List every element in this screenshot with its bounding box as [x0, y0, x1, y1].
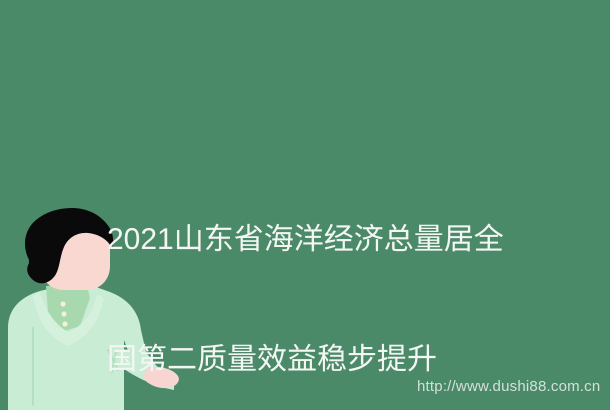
news-banner-image: 2021山东省海洋经济总量居全 国第二质量效益稳步提升 http://www.d…: [0, 0, 610, 410]
headline-line-2: 国第二质量效益稳步提升: [107, 340, 557, 380]
watermark-url: http://www.dushi88.com.cn: [417, 378, 600, 396]
headline-line-1: 2021山东省海洋经济总量居全: [107, 220, 557, 260]
page-title: 2021山东省海洋经济总量居全 国第二质量效益稳步提升: [107, 140, 557, 410]
